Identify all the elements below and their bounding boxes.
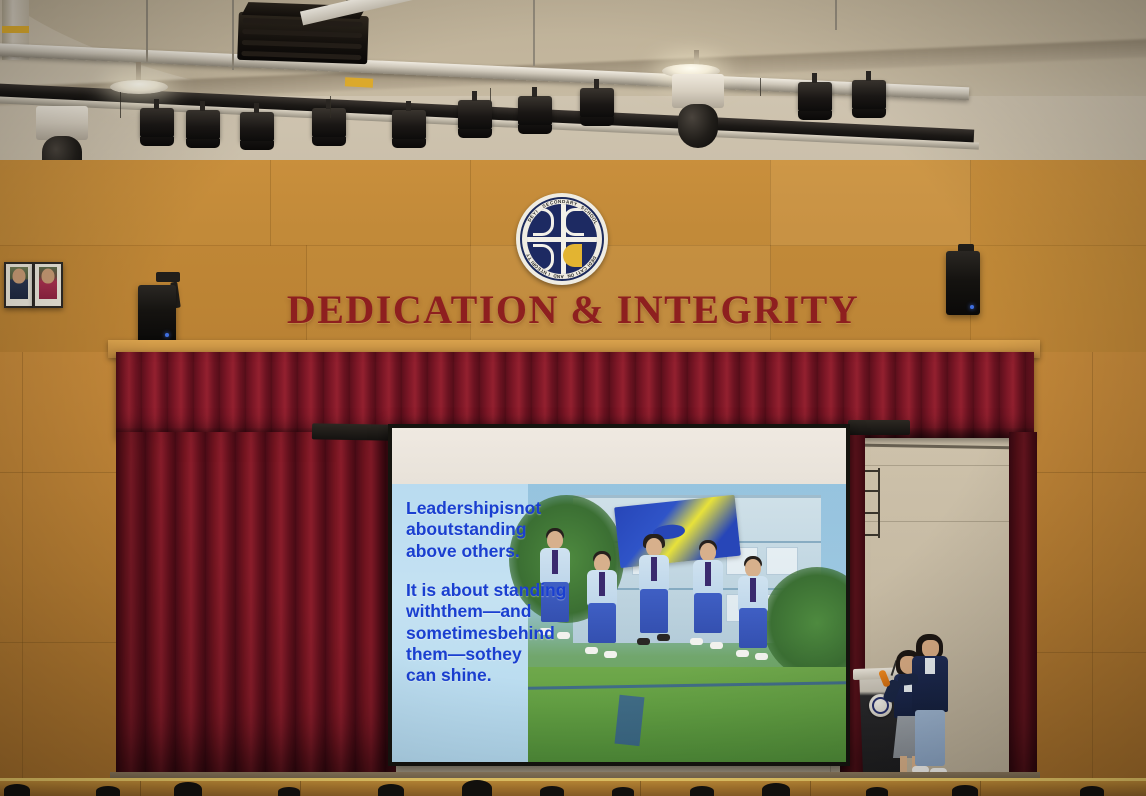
audience-head: [540, 786, 564, 796]
spotlight-body: [798, 82, 832, 112]
spotlight-par-can: [140, 108, 174, 146]
wood-panel: [0, 160, 271, 246]
wood-seam: [1092, 352, 1093, 796]
cable: [120, 92, 121, 118]
spotlight-par-can: [798, 82, 832, 120]
school-crest: DEYI SECONDARY SCHOOL DEDICATION AND INT…: [516, 193, 608, 285]
spotlight-par-can: [518, 96, 552, 134]
wood-seam: [0, 642, 120, 643]
spotlight-yoke: [866, 71, 871, 81]
spotlight-par-can: [852, 80, 886, 118]
audience-head: [690, 786, 714, 796]
presenter-trousers: [915, 710, 945, 766]
student-skirt: [640, 589, 668, 633]
presentation-slide: Leadershipisnotaboutstandingabove others…: [392, 484, 846, 762]
spotlight-body: [140, 108, 174, 138]
student-runner: [633, 534, 675, 740]
student-shoe: [604, 651, 617, 658]
student-tie: [651, 557, 657, 581]
screen-mount-bracket-right: [848, 420, 910, 435]
spotlight-par-can: [186, 110, 220, 148]
slide-word: and: [500, 601, 531, 621]
wood-wall-right-lower: [1030, 352, 1146, 796]
wood-seam: [22, 352, 23, 796]
apron-plank-seam: [810, 781, 811, 796]
spotlight-yoke: [254, 103, 259, 113]
spotlight-body: [186, 110, 220, 140]
slide-line: above others.: [406, 541, 596, 562]
student-shoe: [657, 634, 670, 641]
screen-blank-area: [392, 428, 846, 484]
stage-curtain-right: [1009, 432, 1037, 780]
slide-word: with: [406, 601, 441, 621]
audience-head: [462, 780, 492, 796]
apron-plank-seam: [980, 781, 981, 796]
wall-speaker-left: [138, 285, 176, 343]
batten-yellow-tip: [345, 77, 373, 87]
cable: [490, 88, 491, 108]
slide-word: them: [406, 644, 448, 664]
spotlight-yoke: [472, 91, 477, 101]
student-runner: [732, 556, 774, 745]
audience-head: [174, 782, 202, 796]
spotlight-lens: [458, 129, 492, 138]
crest-ring-text: DEYI SECONDARY SCHOOL DEDICATION AND INT…: [516, 193, 608, 285]
slide-word: is: [499, 498, 514, 518]
audience-head: [278, 787, 300, 796]
slide-word: they: [486, 644, 522, 664]
moving-head-light: [672, 74, 724, 108]
moving-head-yoke: [678, 104, 718, 148]
spotlight-par-can: [240, 112, 274, 150]
truss-hanger-wire: [835, 0, 837, 30]
pillar-yellow-band: [2, 26, 29, 33]
spotlight-yoke: [406, 101, 411, 111]
audience-head: [612, 787, 634, 796]
apron-plank-seam: [640, 781, 641, 796]
screen-mount-bracket-left: [312, 423, 390, 440]
moving-head-light: [36, 106, 88, 140]
slide-word: Leadership: [406, 498, 499, 518]
slide-text-block: Leadershipisnotaboutstandingabove others…: [406, 498, 596, 687]
slide-word: —: [448, 644, 466, 664]
presenter-blazer: [912, 656, 948, 712]
slide-word: so: [465, 644, 485, 664]
cable: [760, 78, 761, 96]
wood-seam: [0, 472, 120, 473]
audience-head: [378, 784, 404, 796]
truss-hanger-wire: [146, 0, 148, 62]
audience-head: [952, 785, 978, 796]
spotlight-par-can: [580, 88, 614, 126]
wood-seam: [1030, 652, 1146, 653]
cable: [330, 96, 331, 118]
slide-word: not: [514, 498, 541, 518]
spotlight-body: [852, 80, 886, 110]
student-head: [646, 538, 662, 556]
portrait-face: [13, 268, 26, 283]
wood-wall-left-lower: [0, 352, 120, 796]
student-tie: [705, 562, 711, 586]
slide-paragraph-2: It is about standingwiththem—andsometime…: [406, 580, 596, 687]
slide-line: them—sothey: [406, 644, 596, 665]
truss-hanger-wire: [533, 0, 535, 66]
spotlight-par-can: [312, 108, 346, 146]
audience-head: [4, 784, 30, 796]
student-skirt: [739, 608, 767, 648]
spotlight-lens: [392, 139, 426, 148]
spotlight-lens: [852, 109, 886, 118]
slide-line: aboutstanding: [406, 519, 596, 540]
speaker-led: [970, 305, 974, 309]
spotlight-lens: [186, 139, 220, 148]
spotlight-body: [580, 88, 614, 118]
spotlight-lens: [798, 111, 832, 120]
light-bank-slat: [241, 51, 361, 60]
student-runner: [687, 540, 729, 740]
wood-panel: [770, 160, 971, 246]
audience-head: [96, 786, 120, 796]
wall-speaker-right: [946, 251, 980, 315]
student-shoe: [736, 650, 749, 657]
student-tie: [599, 572, 605, 596]
speaker-bracket: [156, 272, 180, 282]
slide-line: sometimesbehind: [406, 623, 596, 644]
apron-plank-seam: [140, 781, 141, 796]
portrait-face: [42, 268, 55, 283]
student-head: [700, 543, 716, 561]
wood-panel: [970, 160, 1146, 246]
spotlight-yoke: [532, 87, 537, 97]
spotlight-lens: [312, 137, 346, 146]
presenter-arm: [897, 673, 918, 686]
slide-word: sometimes: [406, 623, 497, 643]
slide-word: standing: [454, 519, 527, 539]
spotlight-body: [518, 96, 552, 126]
slide-line: It is about standing: [406, 580, 596, 601]
audience-head: [866, 787, 888, 796]
spotlight-par-can: [392, 110, 426, 148]
slide-paragraph-1: Leadershipisnotaboutstandingabove others…: [406, 498, 596, 562]
slide-word: —: [483, 601, 501, 621]
spotlight-yoke: [200, 101, 205, 111]
student-shoe: [690, 638, 703, 645]
student-shoe: [637, 638, 650, 645]
stage-curtain-left: [116, 432, 396, 780]
audience-head: [762, 783, 790, 796]
slide-word: about: [406, 519, 454, 539]
slide-line: Leadershipisnot: [406, 498, 596, 519]
spotlight-lens: [240, 141, 274, 150]
spotlight-yoke: [812, 73, 817, 83]
slide-line: withthem—and: [406, 601, 596, 622]
spotlight-body: [392, 110, 426, 140]
spotlight-body: [312, 108, 346, 138]
apron-plank-seam: [300, 781, 301, 796]
stage-edge-highlight: [0, 778, 1146, 781]
truss-hanger-wire: [232, 0, 234, 70]
speaker-led: [165, 333, 169, 337]
spotlight-lens: [140, 137, 174, 146]
slide-word: behind: [497, 623, 554, 643]
student-shoe: [710, 642, 723, 649]
spotlight-lens: [518, 125, 552, 134]
pendant-lamp-stem: [136, 62, 141, 82]
student-head: [745, 559, 761, 577]
spotlight-lens: [580, 117, 614, 126]
audience-head: [1080, 786, 1104, 796]
spotlight-body: [240, 112, 274, 142]
projection-screen[interactable]: Leadershipisnotaboutstandingabove others…: [392, 428, 846, 762]
slide-line: can shine.: [406, 665, 596, 686]
student-trousers: [694, 593, 722, 633]
wood-panel: [270, 160, 471, 246]
light-bank-slat: [242, 40, 362, 49]
pendant-lamp: [110, 80, 168, 94]
slide-word: them: [441, 601, 483, 621]
spotlight-par-can: [458, 100, 492, 138]
presenter-male: [912, 634, 950, 782]
spotlight-yoke: [594, 79, 599, 89]
spotlight-yoke: [154, 99, 159, 109]
student-tie: [750, 578, 756, 602]
light-bank-slat: [242, 29, 362, 38]
wood-seam: [1030, 472, 1146, 473]
student-shoe: [755, 653, 768, 660]
presenter-shirt: [925, 658, 935, 674]
school-hall-photo: DEYI SECONDARY SCHOOL DEDICATION AND INT…: [0, 0, 1146, 796]
spotlight-body: [458, 100, 492, 130]
